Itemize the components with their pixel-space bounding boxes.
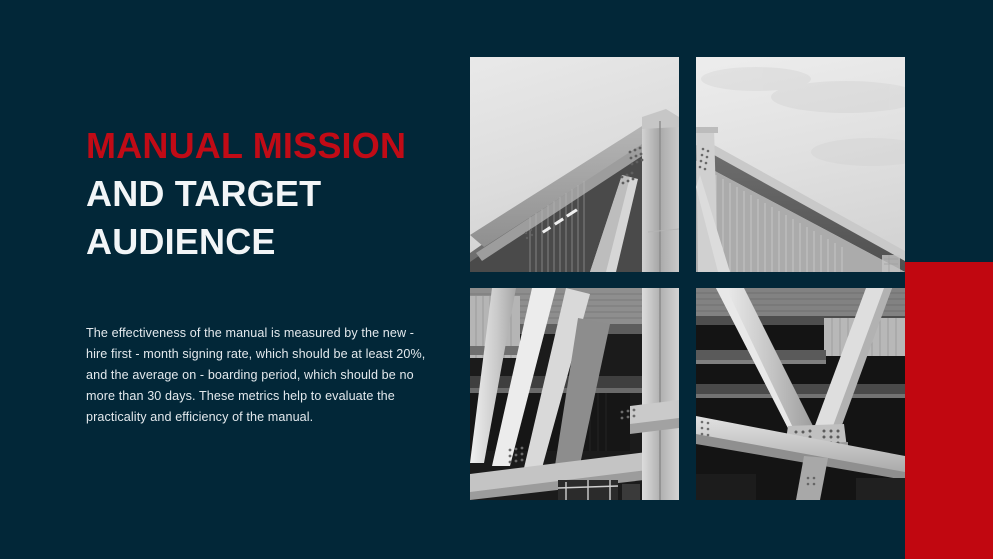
gallery-image-cross-bracing-interior-structure	[470, 288, 679, 500]
title-line-tertiary: AUDIENCE	[86, 218, 416, 266]
gallery-image-v-brace-gusset-connection	[696, 288, 905, 500]
presentation-slide: MANUAL MISSION AND TARGET AUDIENCE The e…	[0, 0, 993, 559]
gallery-image-steel-beam-corner-against-sky	[470, 57, 679, 272]
gallery-image-diagonal-girder-against-sky	[696, 57, 905, 272]
accent-block	[905, 262, 993, 559]
image-gallery	[470, 57, 905, 500]
title-line-accent: MANUAL MISSION	[86, 122, 416, 170]
title-line-secondary: AND TARGET	[86, 170, 416, 218]
page-title: MANUAL MISSION AND TARGET AUDIENCE	[86, 122, 416, 266]
body-paragraph: The effectiveness of the manual is measu…	[86, 323, 438, 428]
